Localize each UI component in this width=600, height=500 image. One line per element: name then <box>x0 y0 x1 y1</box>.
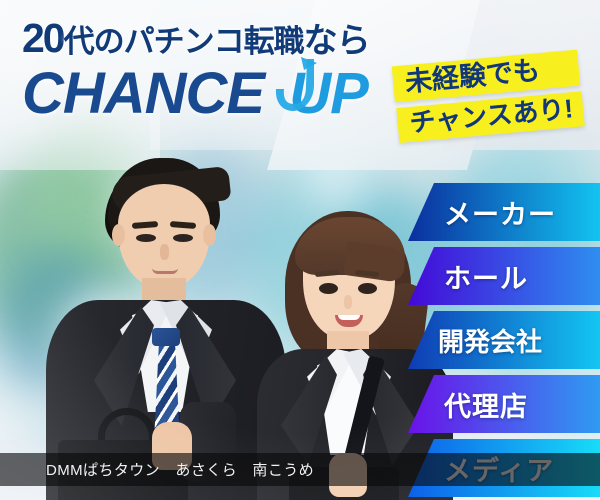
advertisement-banner[interactable]: 20代のパチンコ転職なら CHANCE UP 未経験でも チャンスあり! メーカ… <box>0 0 600 500</box>
category-button-development-company[interactable]: 開発会社 <box>408 311 600 369</box>
up-word: UP <box>274 61 368 126</box>
headline-line-1-rest: 代のパチンコ転職 <box>64 24 304 59</box>
headline-line-2: CHANCE UP <box>22 65 370 123</box>
category-button-agency[interactable]: 代理店 <box>408 375 600 433</box>
chance-word: CHANCE <box>22 61 264 126</box>
category-label: メーカー <box>444 193 556 232</box>
category-label: 代理店 <box>444 385 528 424</box>
headline-number: 20 <box>22 15 64 61</box>
credit-band: DMMぱちタウン あさくら 南こうめ <box>0 453 600 486</box>
promo-ribbons: 未経験でも チャンスあり! <box>393 58 579 130</box>
category-label: ホール <box>444 257 528 296</box>
up-text: UP <box>289 61 368 126</box>
headline-line-1: 20代のパチンコ転職なら <box>22 18 370 59</box>
category-label: 開発会社 <box>438 322 542 359</box>
credit-text: DMMぱちタウン あさくら 南こうめ <box>46 459 314 480</box>
photo-businessman <box>40 150 290 500</box>
category-button-maker[interactable]: メーカー <box>408 183 600 241</box>
category-button-hall[interactable]: ホール <box>408 247 600 305</box>
headline-line-1-tail: なら <box>304 22 370 60</box>
headline-block: 20代のパチンコ転職なら CHANCE UP <box>22 18 370 123</box>
